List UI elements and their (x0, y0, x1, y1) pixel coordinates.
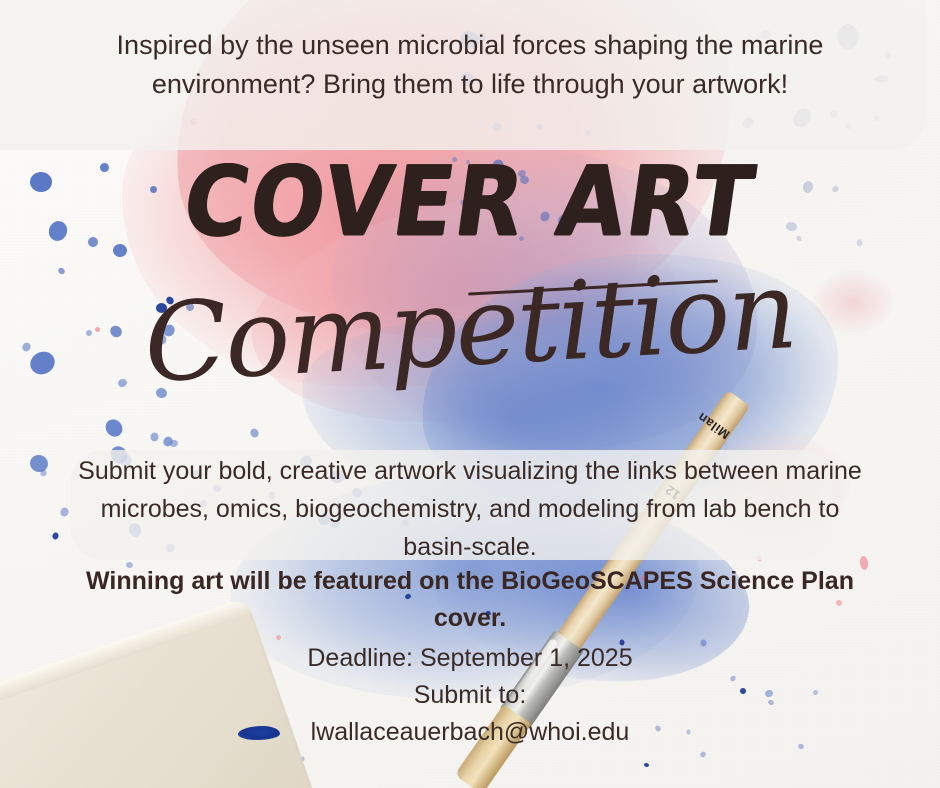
submit-to-label: Submit to: (72, 677, 868, 714)
title-competition-wrap: Competition (0, 258, 940, 428)
paint-splatter (150, 432, 158, 441)
title-competition: Competition (0, 233, 940, 422)
body-copy-text: Submit your bold, creative artwork visua… (72, 452, 868, 566)
highlight-text: Winning art will be featured on the BioG… (72, 563, 868, 637)
poster-canvas: Milan 12 Inspired by the unseen microbia… (0, 0, 940, 788)
submission-email[interactable]: lwallaceauerbach@whoi.edu (72, 714, 868, 751)
deadline-text: Deadline: September 1, 2025 (72, 640, 868, 677)
intro-text: Inspired by the unseen microbial forces … (70, 26, 870, 104)
